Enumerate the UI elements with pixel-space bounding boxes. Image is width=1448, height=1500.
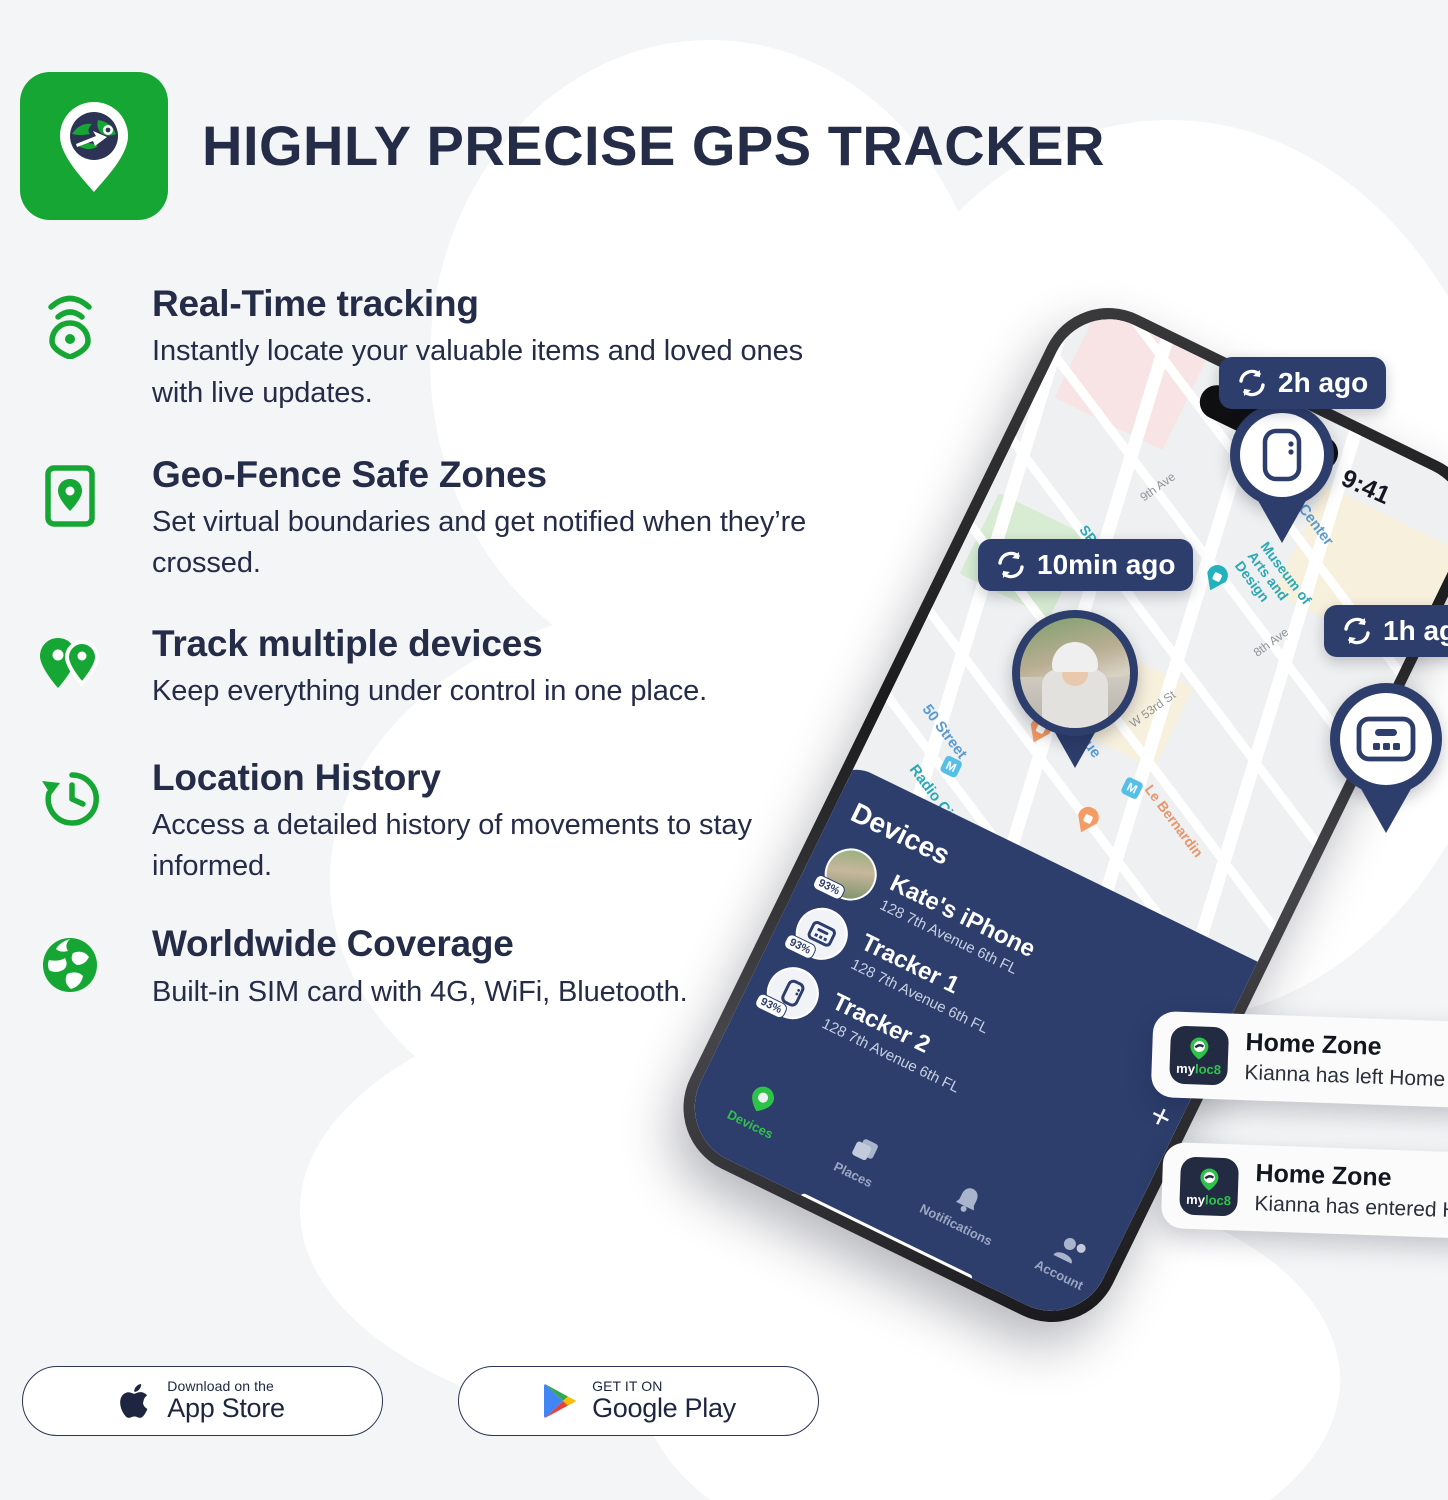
notification-body: Kianna has entered Home bbox=[1254, 1191, 1448, 1225]
tab-notifications[interactable]: Notifications bbox=[912, 1165, 1016, 1251]
feature-description: Keep everything under control in one pla… bbox=[152, 671, 834, 712]
refresh-badge-label: 2h ago bbox=[1278, 367, 1368, 399]
cyclist-avatar-icon bbox=[1012, 610, 1138, 736]
geofence-safe-zone-icon bbox=[34, 460, 106, 532]
myloc8-app-icon: myloc8 bbox=[1179, 1157, 1239, 1217]
notification-app-brand: myloc8 bbox=[1176, 1062, 1221, 1077]
store-badges: Download on the App Store GET IT ON Goog… bbox=[22, 1366, 819, 1436]
feature-description: Set virtual boundaries and get notified … bbox=[152, 502, 834, 584]
feature-list: Real-Time tracking Instantly locate your… bbox=[34, 283, 834, 1051]
notification-app-brand: myloc8 bbox=[1186, 1193, 1231, 1208]
refresh-sync-icon bbox=[1342, 617, 1372, 645]
feature-title: Location History bbox=[152, 757, 834, 798]
tracker-tag-icon bbox=[1240, 413, 1324, 497]
notification-card-entered-home[interactable]: myloc8 Home Zone Kianna has entered Home bbox=[1161, 1142, 1448, 1240]
apple-logo-icon bbox=[120, 1381, 154, 1421]
feature-item-geofence: Geo-Fence Safe Zones Set virtual boundar… bbox=[34, 454, 834, 585]
refresh-badge-2h: 2h ago bbox=[1219, 357, 1386, 409]
refresh-badge-10min: 10min ago bbox=[978, 539, 1193, 591]
globe-worldwide-icon bbox=[34, 929, 106, 1001]
feature-item-realtime-tracking: Real-Time tracking Instantly locate your… bbox=[34, 283, 834, 414]
feature-title: Geo-Fence Safe Zones bbox=[152, 454, 834, 495]
feature-description: Instantly locate your valuable items and… bbox=[152, 331, 834, 413]
feature-item-location-history: Location History Access a detailed histo… bbox=[34, 757, 834, 888]
promo-banner: HIGHLY PRECISE GPS TRACKER Real-Time tra… bbox=[0, 0, 1448, 1500]
google-play-small-label: GET IT ON bbox=[592, 1379, 736, 1394]
google-play-button[interactable]: GET IT ON Google Play bbox=[458, 1366, 819, 1436]
header: HIGHLY PRECISE GPS TRACKER bbox=[20, 72, 1105, 220]
tracker-device-pin[interactable] bbox=[1230, 403, 1334, 543]
refresh-badge-label: 10min ago bbox=[1037, 549, 1175, 581]
google-play-icon bbox=[541, 1381, 579, 1421]
feature-description: Access a detailed history of movements t… bbox=[152, 805, 834, 887]
tab-places[interactable]: Places bbox=[809, 1115, 913, 1201]
notification-body: Kianna has left Home bbox=[1244, 1060, 1446, 1092]
feature-item-multiple-devices: Track multiple devices Keep everything u… bbox=[34, 623, 834, 719]
feature-description: Built-in SIM card with 4G, WiFi, Bluetoo… bbox=[152, 972, 834, 1013]
multiple-devices-pins-icon bbox=[34, 629, 106, 701]
tracker-card-icon bbox=[1340, 693, 1432, 785]
refresh-badge-1h: 1h ago bbox=[1324, 605, 1448, 657]
feature-title: Real-Time tracking bbox=[152, 283, 834, 324]
feature-title: Track multiple devices bbox=[152, 623, 834, 664]
refresh-sync-icon bbox=[996, 551, 1026, 579]
refresh-sync-icon bbox=[1237, 369, 1267, 397]
realtime-tracking-pin-icon bbox=[34, 289, 106, 361]
notification-title: Home Zone bbox=[1245, 1029, 1447, 1063]
tracker-card-pin[interactable] bbox=[1330, 683, 1442, 833]
feature-item-worldwide-coverage: Worldwide Coverage Built-in SIM card wit… bbox=[34, 923, 834, 1019]
clock-history-icon bbox=[34, 763, 106, 835]
feature-title: Worldwide Coverage bbox=[152, 923, 834, 964]
app-store-button[interactable]: Download on the App Store bbox=[22, 1366, 383, 1436]
refresh-badge-label: 1h ago bbox=[1383, 615, 1448, 647]
page-title: HIGHLY PRECISE GPS TRACKER bbox=[202, 118, 1105, 174]
location-pin-globe-icon bbox=[42, 94, 146, 198]
app-store-small-label: Download on the bbox=[167, 1379, 284, 1394]
app-store-label: App Store bbox=[167, 1394, 284, 1422]
google-play-label: Google Play bbox=[592, 1394, 736, 1422]
myloc8-app-icon: myloc8 bbox=[1169, 1026, 1229, 1086]
person-photo-pin[interactable] bbox=[1012, 610, 1138, 768]
notification-card-left-home[interactable]: myloc8 Home Zone Kianna has left Home bbox=[1151, 1011, 1448, 1109]
tab-account[interactable]: Account bbox=[1015, 1215, 1119, 1301]
tab-devices[interactable]: Devices bbox=[707, 1065, 811, 1151]
app-logo bbox=[20, 72, 168, 220]
